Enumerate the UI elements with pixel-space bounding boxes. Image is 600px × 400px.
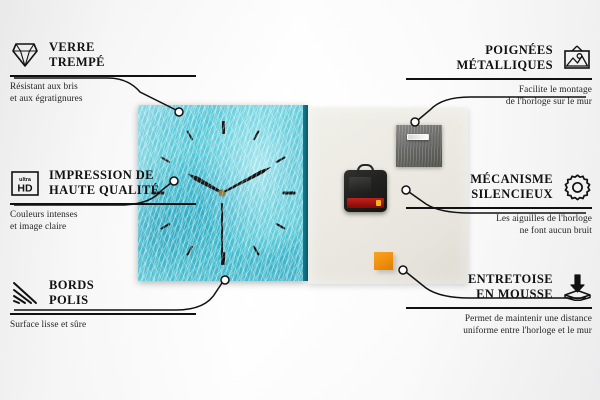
feature-title-line1: BORDS	[49, 278, 94, 293]
feature-title-line2: MÉTALLIQUES	[456, 58, 553, 73]
feature-title: BORDS POLIS	[49, 278, 94, 308]
feature-title-line2: TREMPÉ	[49, 55, 105, 70]
feature-desc-line1: Couleurs intenses	[10, 209, 196, 221]
polished-edge-icon	[10, 278, 40, 308]
feature-entretoise-en-mousse[interactable]: ENTRETOISE EN MOUSSE Permet de maintenir…	[406, 272, 592, 337]
feature-title: VERRE TREMPÉ	[49, 40, 105, 70]
feature-title-line1: ENTRETOISE	[468, 272, 553, 287]
feature-divider	[406, 78, 592, 80]
feature-desc-line1: Permet de maintenir une distance	[406, 313, 592, 325]
feature-desc-line2: ne font aucun bruit	[406, 225, 592, 237]
feature-title-line1: IMPRESSION DE	[49, 168, 159, 183]
feature-title: ENTRETOISE EN MOUSSE	[468, 272, 553, 302]
feature-divider	[406, 307, 592, 309]
ultra-hd-icon: ultra HD	[10, 168, 40, 198]
feature-description: Les aiguilles de l'horloge ne font aucun…	[406, 213, 592, 238]
foam-spacer-icon	[562, 272, 592, 302]
feature-desc-line1: Résistant aux bris	[10, 81, 196, 93]
feature-desc-line2: et image claire	[10, 221, 196, 233]
feature-bords-polis[interactable]: BORDS POLIS Surface lisse et sûre	[10, 278, 196, 331]
feature-desc-line1: Facilite le montage	[406, 84, 592, 96]
feature-description: Couleurs intenses et image claire	[10, 209, 196, 234]
feature-title-line1: MÉCANISME	[470, 172, 553, 187]
feature-desc-line2: et aux égratignures	[10, 93, 196, 105]
feature-divider	[10, 313, 196, 315]
feature-title: MÉCANISME SILENCIEUX	[470, 172, 553, 202]
feature-title-line2: HAUTE QUALITÉ	[49, 183, 159, 198]
feature-divider	[10, 75, 196, 77]
feature-title: IMPRESSION DE HAUTE QUALITÉ	[49, 168, 159, 198]
feature-description: Résistant aux bris et aux égratignures	[10, 81, 196, 106]
svg-text:HD: HD	[17, 182, 33, 194]
feature-divider	[406, 207, 592, 209]
feature-poignees-metalliques[interactable]: POIGNÉES MÉTALLIQUES Facilite le montage…	[406, 43, 592, 108]
feature-desc-line1: Les aiguilles de l'horloge	[406, 213, 592, 225]
infographic-canvas: VERRE TREMPÉ Résistant aux bris et aux é…	[0, 0, 600, 400]
feature-divider	[10, 203, 196, 205]
feature-description: Permet de maintenir une distance uniform…	[406, 313, 592, 338]
feature-desc-line1: Surface lisse et sûre	[10, 319, 196, 331]
feature-mecanisme-silencieux[interactable]: MÉCANISME SILENCIEUX Les aiguilles de l'…	[406, 172, 592, 237]
feature-description: Surface lisse et sûre	[10, 319, 196, 331]
feature-verre-trempe[interactable]: VERRE TREMPÉ Résistant aux bris et aux é…	[10, 40, 196, 105]
feature-title: POIGNÉES MÉTALLIQUES	[456, 43, 553, 73]
feature-title-line1: POIGNÉES	[456, 43, 553, 58]
feature-impression-haute-qualite[interactable]: ultra HD IMPRESSION DE HAUTE QUALITÉ Cou…	[10, 168, 196, 233]
diamond-icon	[10, 40, 40, 70]
feature-desc-line2: uniforme entre l'horloge et le mur	[406, 325, 592, 337]
feature-title-line2: SILENCIEUX	[470, 187, 553, 202]
feature-title-line2: EN MOUSSE	[468, 287, 553, 302]
gear-icon	[562, 172, 592, 202]
feature-desc-line2: de l'horloge sur le mur	[406, 96, 592, 108]
picture-frame-icon	[562, 43, 592, 73]
feature-title-line2: POLIS	[49, 293, 94, 308]
feature-description: Facilite le montage de l'horloge sur le …	[406, 84, 592, 109]
feature-title-line1: VERRE	[49, 40, 105, 55]
